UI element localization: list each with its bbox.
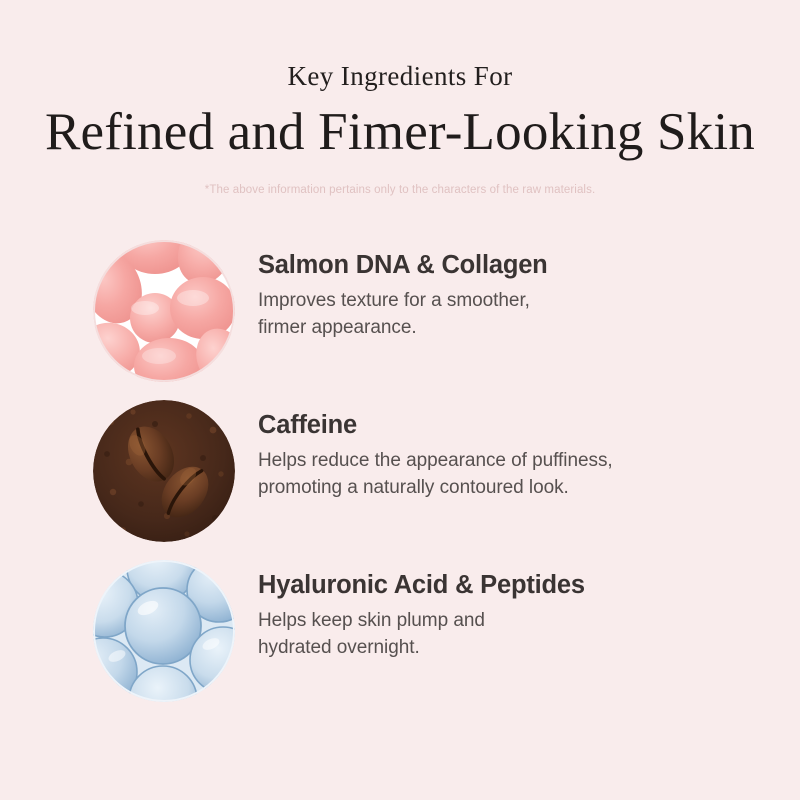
- ingredient-list: Salmon DNA & Collagen Improves texture f…: [0, 240, 800, 720]
- ingredient-copy: Caffeine Helps reduce the appearance of …: [258, 400, 613, 502]
- disclaimer-text: *The above information pertains only to …: [0, 184, 800, 196]
- ingredient-title: Salmon DNA & Collagen: [258, 251, 548, 279]
- hyaluronic-spheres-image: [93, 560, 235, 702]
- page-title: Refined and Fimer-Looking Skin: [0, 103, 800, 162]
- ingredient-title: Caffeine: [258, 411, 613, 439]
- list-item: Salmon DNA & Collagen Improves texture f…: [0, 240, 800, 400]
- coffee-beans-image: [93, 400, 235, 542]
- eyebrow-text: Key Ingredients For: [0, 62, 800, 92]
- list-item: Caffeine Helps reduce the appearance of …: [0, 400, 800, 560]
- page-header: Key Ingredients For Refined and Fimer-Lo…: [0, 0, 800, 196]
- ingredient-description: Improves texture for a smoother, firmer …: [258, 288, 548, 342]
- ingredient-title: Hyaluronic Acid & Peptides: [258, 571, 585, 599]
- ingredient-description: Helps keep skin plump and hydrated overn…: [258, 608, 585, 662]
- list-item: Hyaluronic Acid & Peptides Helps keep sk…: [0, 560, 800, 720]
- ingredient-description: Helps reduce the appearance of puffiness…: [258, 448, 613, 502]
- salmon-dna-capsules-image: [93, 240, 235, 382]
- ingredient-copy: Hyaluronic Acid & Peptides Helps keep sk…: [258, 560, 585, 662]
- ingredient-copy: Salmon DNA & Collagen Improves texture f…: [258, 240, 548, 342]
